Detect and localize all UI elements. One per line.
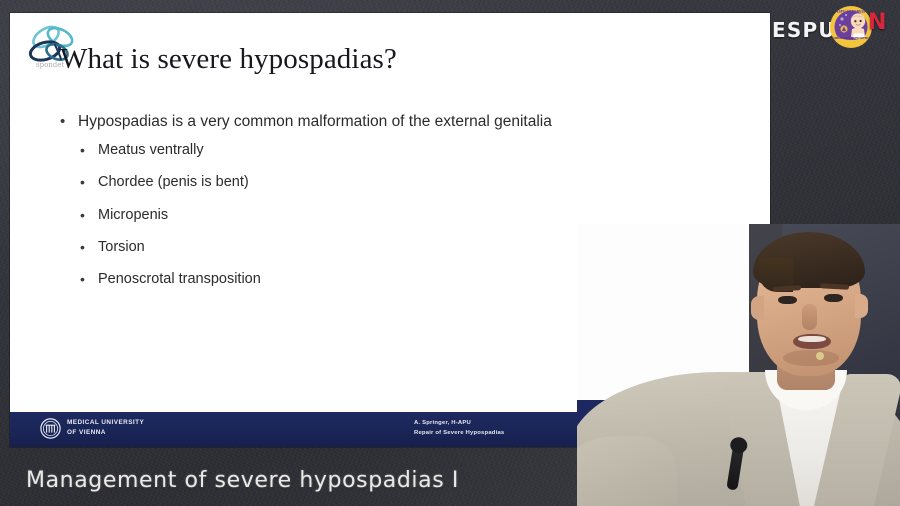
bullet-level2-text: Penoscrotal transposition <box>98 271 261 287</box>
bullet-marker-icon: • <box>60 112 65 132</box>
presenter-nose <box>802 304 817 330</box>
bullet-level2: • Micropenis <box>56 206 750 225</box>
presenter-webcam-feed <box>577 224 900 506</box>
bullet-level2-text: Meatus ventrally <box>98 142 204 158</box>
footer-talk-line: Repair of Severe Hypospadias <box>414 428 504 438</box>
presenter-ear-right <box>855 294 868 318</box>
espu-wordmark: ESPU <box>772 18 836 42</box>
presenter-eye-left <box>778 296 797 304</box>
bullet-level2: • Meatus ventrally <box>56 141 750 160</box>
presenter-mouth <box>793 334 831 349</box>
institution-line-2: OF VIENNA <box>67 428 144 438</box>
espu-trailing-letter: N <box>868 10 887 35</box>
slide-title: What is severe hypospadias? <box>60 43 397 76</box>
bullet-marker-icon: • <box>80 206 85 224</box>
espu-brand-lockup: ESPU <box>772 8 836 52</box>
bullet-marker-icon: • <box>80 238 85 256</box>
bullet-marker-icon: • <box>80 173 85 191</box>
presenter-eye-right <box>824 294 843 302</box>
slide-footer-meta: A. Springer, H-APU Repair of Severe Hypo… <box>414 418 504 439</box>
presenter-lapel-pin <box>816 352 824 360</box>
presenter-arm <box>577 436 677 506</box>
medical-university-of-vienna-emblem-icon <box>40 418 61 439</box>
bullet-level2-text: Chordee (penis is bent) <box>98 174 249 190</box>
bullet-level1-text: Hypospadias is a very common malformatio… <box>78 113 552 130</box>
institution-name: MEDICAL UNIVERSITY OF VIENNA <box>67 418 144 438</box>
presenter-chin-shadow <box>783 350 839 366</box>
session-caption: Management of severe hypospadias I <box>26 468 459 493</box>
presenter-ear-left <box>751 296 764 320</box>
recording-stage: ESPU ESPU CONGRESS EUROPEAN PAEDIATRIC N <box>0 0 900 506</box>
svg-text:EUROPEAN PAEDIATRIC: EUROPEAN PAEDIATRIC <box>831 36 871 40</box>
svg-text:ESPU CONGRESS: ESPU CONGRESS <box>836 10 865 14</box>
bullet-level1: • Hypospadias is a very common malformat… <box>56 112 750 133</box>
bullet-marker-icon: • <box>80 141 85 159</box>
bullet-marker-icon: • <box>80 270 85 288</box>
bullet-level2-text: Torsion <box>98 239 145 255</box>
bullet-level2: • Chordee (penis is bent) <box>56 173 750 192</box>
footer-presenter-line: A. Springer, H-APU <box>414 418 504 428</box>
institution-line-1: MEDICAL UNIVERSITY <box>67 418 144 428</box>
bullet-level2-text: Micropenis <box>98 207 168 223</box>
